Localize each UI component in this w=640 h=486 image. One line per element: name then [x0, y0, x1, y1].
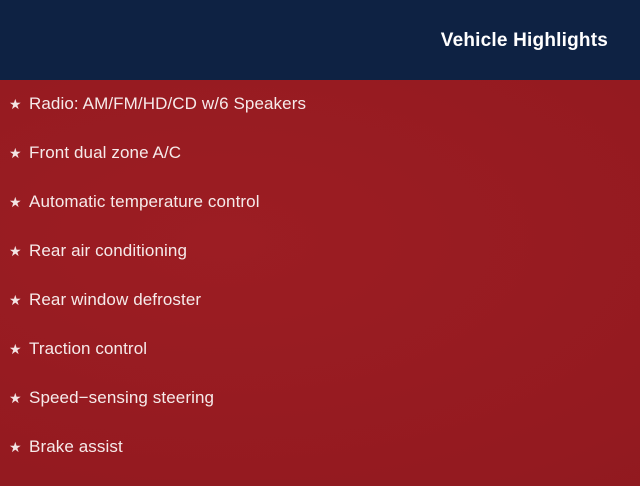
list-item: ★ Rear window defroster: [0, 290, 640, 339]
star-bullet-icon: ★: [9, 193, 29, 212]
star-bullet-icon: ★: [9, 144, 29, 163]
feature-label: Automatic temperature control: [29, 192, 260, 211]
feature-label: Front dual zone A/C: [29, 143, 181, 162]
list-item: ★ Front dual zone A/C: [0, 143, 640, 192]
list-item: ★ Automatic temperature control: [0, 192, 640, 241]
star-bullet-icon: ★: [9, 389, 29, 408]
star-bullet-icon: ★: [9, 242, 29, 261]
star-bullet-icon: ★: [9, 340, 29, 359]
page-title: Vehicle Highlights: [441, 31, 608, 50]
feature-label: Traction control: [29, 339, 147, 358]
feature-label: Rear air conditioning: [29, 241, 187, 260]
star-bullet-icon: ★: [9, 291, 29, 310]
feature-label: Brake assist: [29, 437, 123, 456]
list-item: ★ Traction control: [0, 339, 640, 388]
feature-label: Speed−sensing steering: [29, 388, 214, 407]
feature-label: Rear window defroster: [29, 290, 201, 309]
highlights-panel: ★ Radio: AM/FM/HD/CD w/6 Speakers ★ Fron…: [0, 80, 640, 480]
star-bullet-icon: ★: [9, 95, 29, 114]
vehicle-highlights-slide: Vehicle Highlights ★ Radio: AM/FM/HD/CD …: [0, 0, 640, 480]
list-item: ★ Rear air conditioning: [0, 241, 640, 290]
feature-list: ★ Radio: AM/FM/HD/CD w/6 Speakers ★ Fron…: [0, 94, 640, 486]
list-item: ★ Radio: AM/FM/HD/CD w/6 Speakers: [0, 94, 640, 143]
slide-header: Vehicle Highlights: [0, 0, 640, 80]
feature-label: Radio: AM/FM/HD/CD w/6 Speakers: [29, 94, 306, 113]
list-item: ★ Brake assist: [0, 437, 640, 486]
star-bullet-icon: ★: [9, 438, 29, 457]
list-item: ★ Speed−sensing steering: [0, 388, 640, 437]
